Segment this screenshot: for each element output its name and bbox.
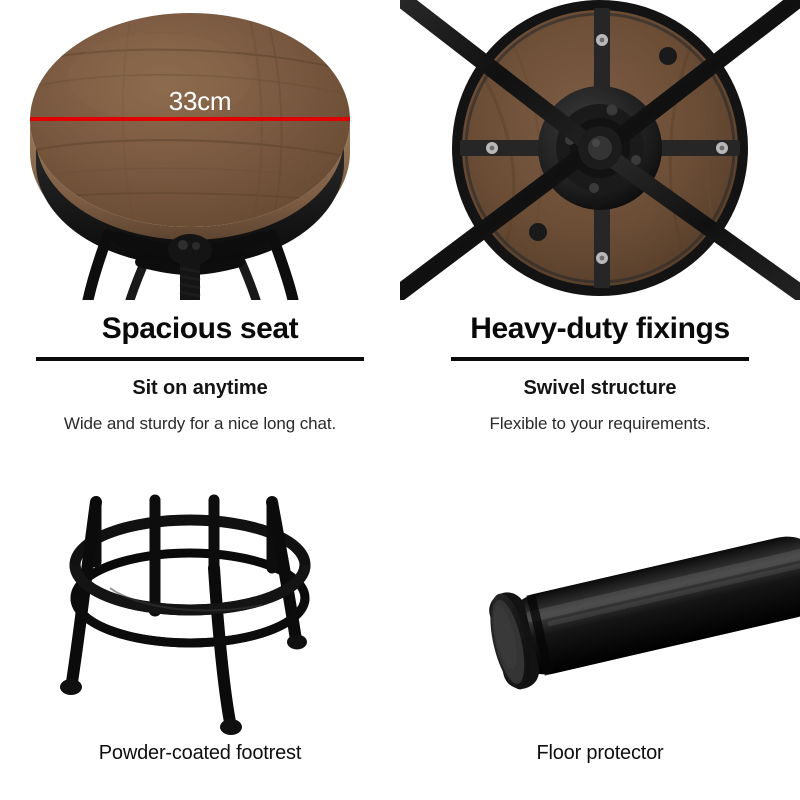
- floor-protector-image: [400, 450, 800, 740]
- stool-leg-tube: [496, 528, 800, 682]
- feature-panel-powder-coated-footrest: Powder-coated footrest: [0, 450, 400, 800]
- feature-subtitle: Sit on anytime: [0, 361, 400, 401]
- feature-subtitle: Swivel structure: [400, 361, 800, 401]
- swivel-illustration: [400, 0, 800, 300]
- footrest-illustration: [0, 450, 400, 740]
- feature-panel-floor-protector: Floor protector: [400, 450, 800, 800]
- feature-text-heavy-duty-fixings: Heavy-duty fixings Swivel structure Flex…: [400, 300, 800, 435]
- seat-top-view-image: 33cm: [0, 0, 400, 300]
- product-feature-grid: 33cm Spacious seat Sit on anytime Wide a…: [0, 0, 800, 800]
- feature-panel-spacious-seat: 33cm Spacious seat Sit on anytime Wide a…: [0, 0, 400, 450]
- footrest-image: [0, 450, 400, 740]
- feature-text-spacious-seat: Spacious seat Sit on anytime Wide and st…: [0, 300, 400, 435]
- seat-illustration: [0, 0, 400, 300]
- feature-title: Heavy-duty fixings: [400, 300, 800, 348]
- screw-thread: [180, 262, 200, 300]
- ball-joint: [529, 223, 547, 241]
- floor-protector-illustration: [400, 450, 800, 740]
- feature-description: Wide and sturdy for a nice long chat.: [0, 401, 400, 435]
- feature-title: Spacious seat: [0, 300, 400, 348]
- feature-panel-heavy-duty-fixings: Heavy-duty fixings Swivel structure Flex…: [400, 0, 800, 450]
- floor-protector-feet: [60, 635, 307, 736]
- feature-description: Flexible to your requirements.: [400, 401, 800, 435]
- ball-joint: [659, 47, 677, 65]
- feature-caption: Powder-coated footrest: [0, 740, 400, 766]
- swivel-hub: [168, 234, 212, 266]
- feature-caption: Floor protector: [400, 740, 800, 766]
- swivel-underside-image: [400, 0, 800, 300]
